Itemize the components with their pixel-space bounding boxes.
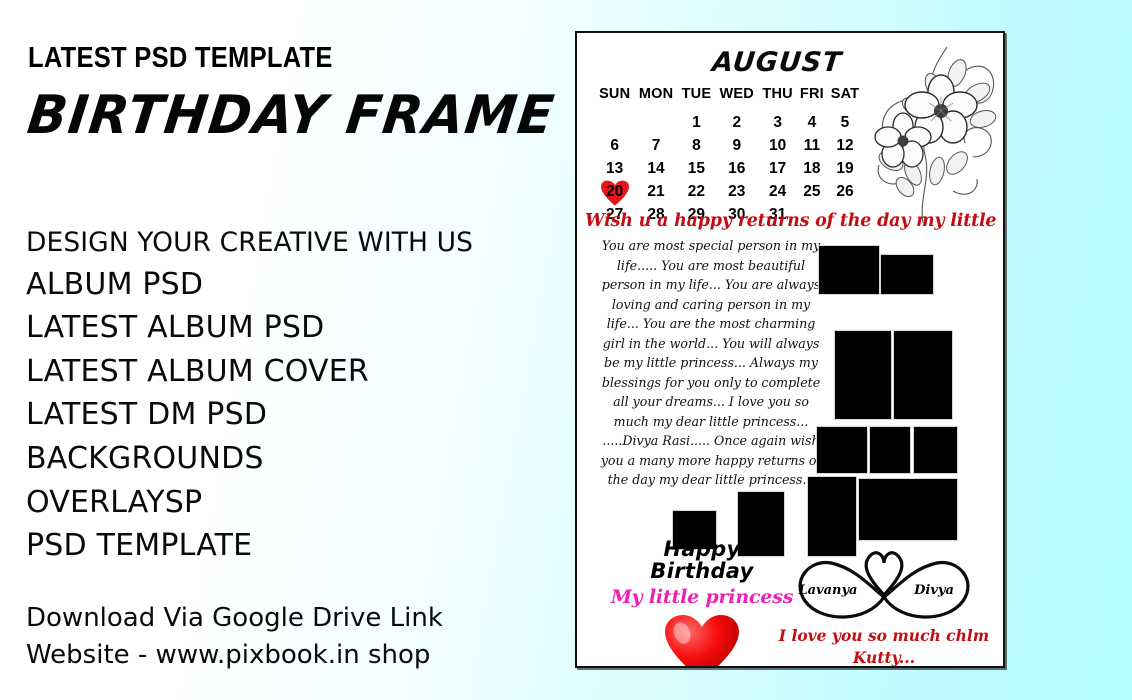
- list-item: ALBUM PSD: [26, 263, 546, 307]
- service-list: DESIGN YOUR CREATIVE WITH US ALBUM PSD L…: [26, 224, 546, 568]
- day-highlight-heart-icon: 20: [601, 181, 629, 203]
- love-line-2: Kutty...: [773, 647, 995, 668]
- list-item: LATEST DM PSD: [26, 393, 546, 437]
- page-title: BIRTHDAY FRAME: [25, 89, 536, 142]
- promo-block: LATEST PSD TEMPLATE BIRTHDAY FRAME: [28, 42, 548, 142]
- photo-slot[interactable]: [834, 330, 892, 420]
- website-text: Website - www.pixbook.in shop: [26, 637, 546, 674]
- photo-slot[interactable]: [880, 254, 934, 295]
- list-item: PSD TEMPLATE: [26, 524, 546, 568]
- photo-slot[interactable]: [818, 245, 880, 295]
- birthday-frame-card: AUGUST: [575, 31, 1005, 668]
- photo-slot[interactable]: [858, 478, 958, 541]
- calendar-day-label: 20: [601, 181, 629, 203]
- photo-slot[interactable]: [893, 330, 953, 420]
- list-item: LATEST ALBUM PSD: [26, 306, 546, 350]
- list-item: DESIGN YOUR CREATIVE WITH US: [26, 224, 546, 263]
- photo-slot[interactable]: [816, 426, 868, 474]
- name-left: Lavanya: [793, 583, 863, 598]
- love-line-1: I love you so much chlm: [773, 625, 995, 647]
- photo-slot[interactable]: [869, 426, 911, 474]
- calendar-day-20[interactable]: 20: [595, 180, 634, 203]
- download-info: Download Via Google Drive Link Website -…: [26, 600, 546, 674]
- list-item: BACKGROUNDS: [26, 437, 546, 481]
- list-item: LATEST ALBUM COVER: [26, 350, 546, 394]
- infinity-names-block: Lavanya Divya I love you so much chlm Ku…: [773, 545, 995, 668]
- list-item: OVERLAYSP: [26, 481, 546, 525]
- name-right: Divya: [899, 583, 969, 598]
- photo-slot[interactable]: [913, 426, 958, 474]
- infinity-symbol-icon: Lavanya Divya: [779, 545, 989, 625]
- promo-kicker: LATEST PSD TEMPLATE: [28, 42, 486, 75]
- download-link-text: Download Via Google Drive Link: [26, 600, 546, 637]
